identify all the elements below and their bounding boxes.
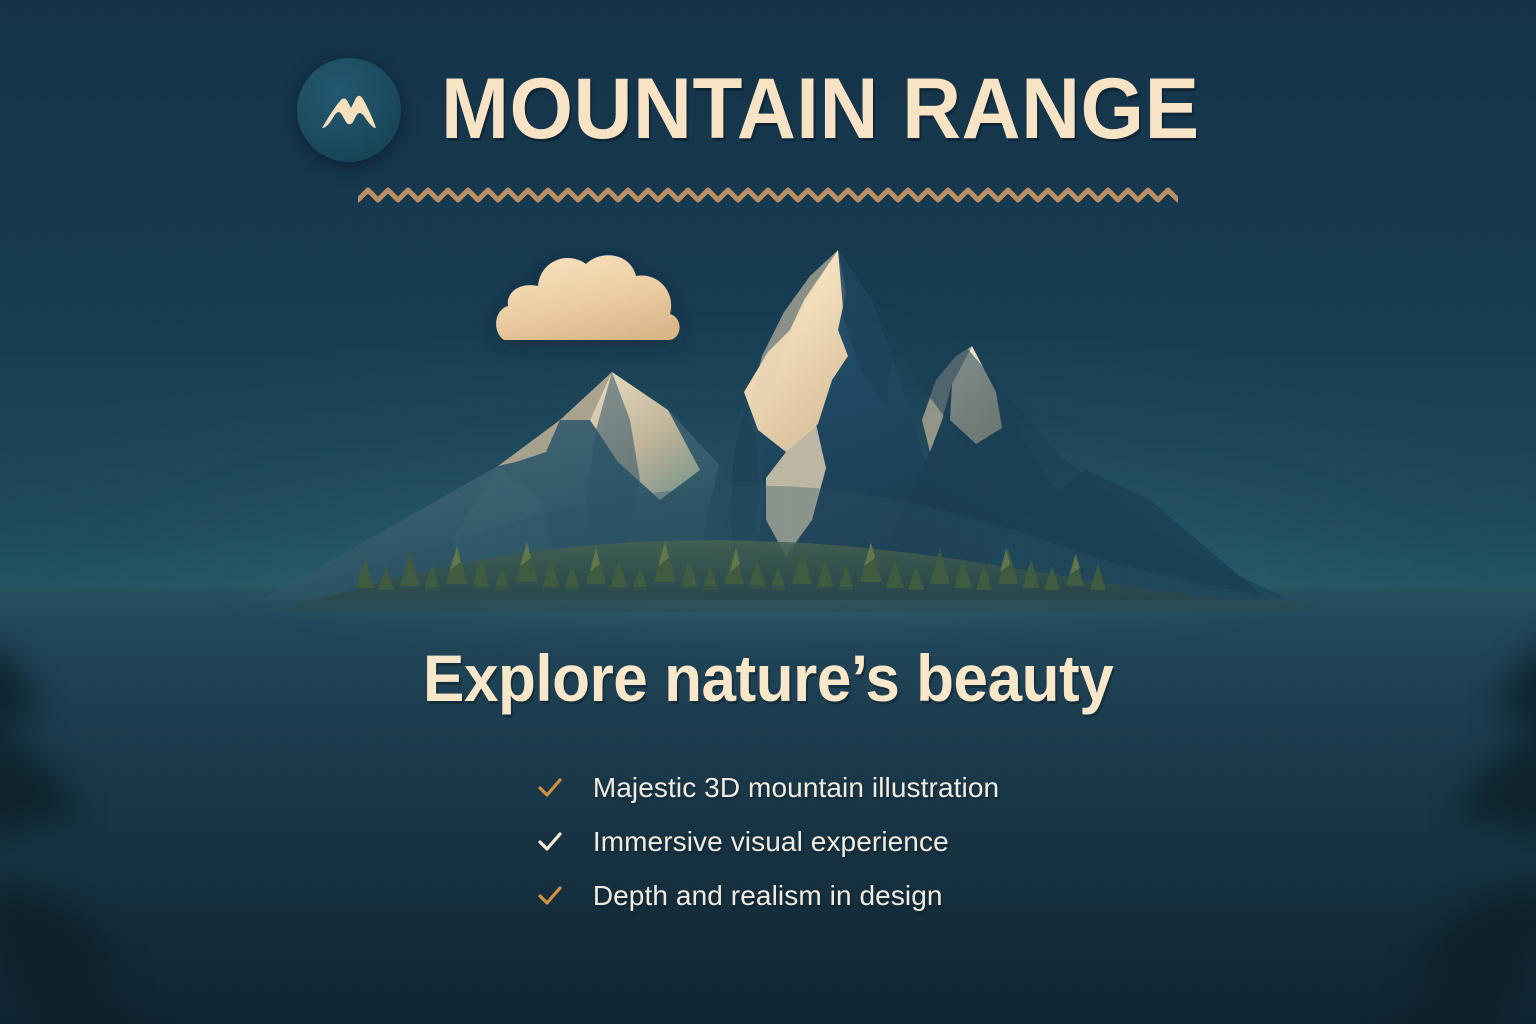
list-item: Immersive visual experience	[537, 826, 999, 858]
page-title: MOUNTAIN RANGE	[441, 69, 1200, 151]
hero-content: Explore nature’s beauty Majestic 3D moun…	[0, 640, 1536, 912]
check-icon	[537, 883, 563, 909]
feature-list: Majestic 3D mountain illustration Immers…	[537, 772, 999, 912]
list-item: Depth and realism in design	[537, 880, 999, 912]
poster-canvas: MOUNTAIN RANGE Explore nature’s beauty M…	[0, 0, 1536, 1024]
header-row: MOUNTAIN RANGE	[297, 58, 1239, 162]
hero-subtitle: Explore nature’s beauty	[423, 640, 1113, 716]
list-item: Majestic 3D mountain illustration	[537, 772, 999, 804]
feature-label: Immersive visual experience	[593, 826, 949, 858]
feature-label: Depth and realism in design	[593, 880, 943, 912]
feature-label: Majestic 3D mountain illustration	[593, 772, 999, 804]
header: MOUNTAIN RANGE	[0, 58, 1536, 206]
zigzag-wave-divider	[358, 184, 1178, 206]
logo-badge[interactable]	[297, 58, 401, 162]
check-icon	[537, 775, 563, 801]
mountain-peak-icon	[318, 88, 380, 132]
cloud	[496, 255, 679, 340]
check-icon	[537, 829, 563, 855]
